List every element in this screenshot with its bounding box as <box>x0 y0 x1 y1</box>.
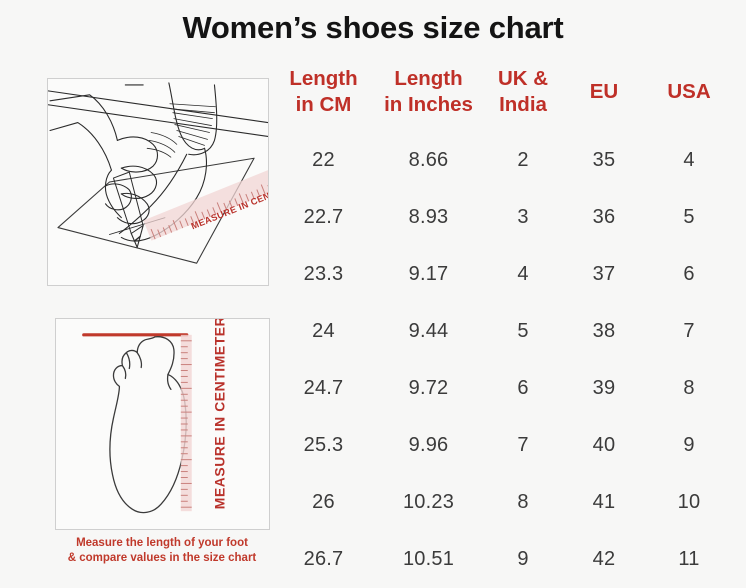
column-header-line-2: in Inches <box>375 92 482 118</box>
cell-usa: 11 <box>644 531 734 588</box>
column-header-line-1: EU <box>564 79 644 105</box>
column-header-eu: EU <box>564 66 644 132</box>
cell-usa: 6 <box>644 246 734 303</box>
cell-length-inches: 9.96 <box>375 417 482 474</box>
cell-eu: 35 <box>564 132 644 189</box>
cell-length-cm: 24.7 <box>272 360 375 417</box>
cell-length-inches: 10.51 <box>375 531 482 588</box>
caption-line-1: Measure the length of your foot <box>47 536 277 551</box>
cell-length-inches: 8.93 <box>375 189 482 246</box>
table-row: 26.7 10.51 9 42 11 <box>272 531 734 588</box>
cell-eu: 41 <box>564 474 644 531</box>
page-title: Women’s shoes size chart <box>0 6 746 50</box>
cell-usa: 8 <box>644 360 734 417</box>
cell-usa: 4 <box>644 132 734 189</box>
cell-length-cm: 22.7 <box>272 189 375 246</box>
column-header-line-1: USA <box>644 79 734 105</box>
column-header-length-inches: Length in Inches <box>375 66 482 132</box>
measure-instruction-caption: Measure the length of your foot & compar… <box>47 536 277 566</box>
column-header-line-1: UK & <box>482 66 564 92</box>
table-row: 24 9.44 5 38 7 <box>272 303 734 360</box>
cell-eu: 40 <box>564 417 644 474</box>
cell-eu: 37 <box>564 246 644 303</box>
cell-usa: 5 <box>644 189 734 246</box>
column-header-usa: USA <box>644 66 734 132</box>
table-header-row: Length in CM Length in Inches UK & India… <box>272 66 734 132</box>
cell-length-cm: 25.3 <box>272 417 375 474</box>
cell-length-cm: 23.3 <box>272 246 375 303</box>
cell-length-inches: 9.17 <box>375 246 482 303</box>
cell-length-inches: 8.66 <box>375 132 482 189</box>
caption-line-2: & compare values in the size chart <box>47 551 277 566</box>
cell-uk-india: 6 <box>482 360 564 417</box>
cell-uk-india: 4 <box>482 246 564 303</box>
table-row: 22 8.66 2 35 4 <box>272 132 734 189</box>
cell-eu: 36 <box>564 189 644 246</box>
cell-uk-india: 5 <box>482 303 564 360</box>
cell-uk-india: 8 <box>482 474 564 531</box>
cell-eu: 38 <box>564 303 644 360</box>
cell-length-cm: 24 <box>272 303 375 360</box>
cell-uk-india: 3 <box>482 189 564 246</box>
column-header-uk-india: UK & India <box>482 66 564 132</box>
illustration-measure-foot-on-paper: MEASURE IN CENTIMETERS <box>47 78 269 286</box>
table-row: 26 10.23 8 41 10 <box>272 474 734 531</box>
cell-eu: 39 <box>564 360 644 417</box>
table-row: 24.7 9.72 6 39 8 <box>272 360 734 417</box>
column-header-line-1: Length <box>375 66 482 92</box>
cell-uk-india: 2 <box>482 132 564 189</box>
table-row: 23.3 9.17 4 37 6 <box>272 246 734 303</box>
cell-usa: 9 <box>644 417 734 474</box>
size-chart-table-header: Length in CM Length in Inches UK & India… <box>272 66 734 132</box>
ruler-label-text: MEASURE IN CENTIMETERS <box>211 319 227 509</box>
cell-uk-india: 7 <box>482 417 564 474</box>
cell-length-inches: 9.44 <box>375 303 482 360</box>
cell-uk-india: 9 <box>482 531 564 588</box>
cell-length-cm: 26 <box>272 474 375 531</box>
table-row: 25.3 9.96 7 40 9 <box>272 417 734 474</box>
cell-length-cm: 22 <box>272 132 375 189</box>
measure-foot-on-paper-drawing: MEASURE IN CENTIMETERS <box>48 79 268 285</box>
cell-length-inches: 9.72 <box>375 360 482 417</box>
cell-length-cm: 26.7 <box>272 531 375 588</box>
cell-length-inches: 10.23 <box>375 474 482 531</box>
cell-usa: 10 <box>644 474 734 531</box>
size-chart-table-body: 22 8.66 2 35 4 22.7 8.93 3 36 5 23.3 9.1… <box>272 132 734 588</box>
cell-eu: 42 <box>564 531 644 588</box>
illustration-footprint-outline: MEASURE IN CENTIMETERS <box>55 318 270 530</box>
size-chart-page: Women’s shoes size chart <box>0 0 746 585</box>
size-chart-table: Length in CM Length in Inches UK & India… <box>272 66 734 588</box>
table-row: 22.7 8.93 3 36 5 <box>272 189 734 246</box>
column-header-length-cm: Length in CM <box>272 66 375 132</box>
column-header-line-2: India <box>482 92 564 118</box>
cell-usa: 7 <box>644 303 734 360</box>
column-header-line-2: in CM <box>272 92 375 118</box>
column-header-line-1: Length <box>272 66 375 92</box>
footprint-outline-drawing: MEASURE IN CENTIMETERS <box>56 319 269 529</box>
